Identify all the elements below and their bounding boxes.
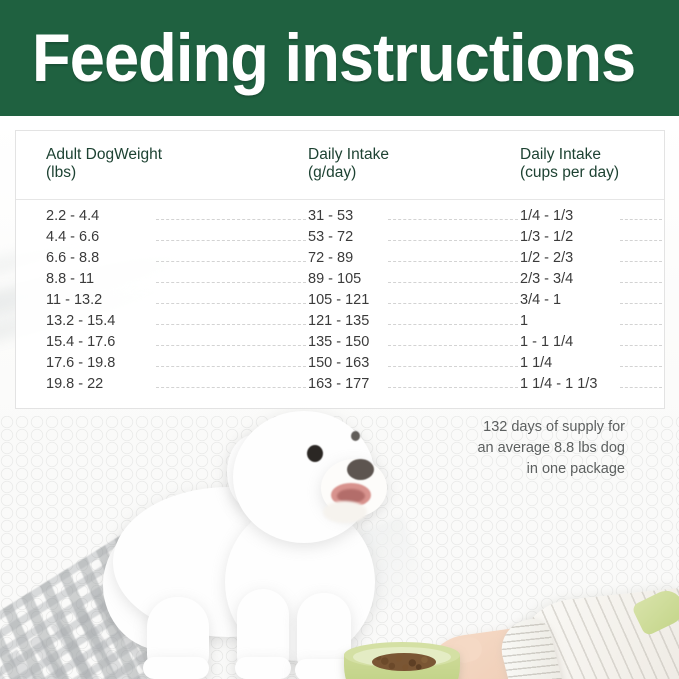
cell-weight: 2.2 - 4.4 — [46, 206, 105, 227]
leader-line — [620, 387, 662, 388]
dog-eye — [351, 431, 360, 441]
leader-line — [620, 366, 662, 367]
cell-weight: 11 - 13.2 — [46, 290, 108, 311]
leader-line — [620, 240, 662, 241]
cell-weight: 4.4 - 6.6 — [46, 227, 105, 248]
leader-line — [156, 324, 306, 325]
cell-grams: 31 - 53 — [308, 206, 359, 227]
table-row: 11 - 13.2 105 - 121 3/4 - 1 — [16, 290, 664, 311]
table-row: 4.4 - 6.6 53 - 72 1/3 - 1/2 — [16, 227, 664, 248]
column-header-line1: Daily Intake — [308, 146, 389, 163]
cell-weight: 15.4 - 17.6 — [46, 332, 121, 353]
leader-line — [156, 261, 306, 262]
supply-duration-caption: 132 days of supply for an average 8.8 lb… — [395, 417, 625, 480]
dog-paw — [235, 657, 291, 679]
cell-cups: 1 1/4 - 1 1/3 — [520, 374, 603, 395]
column-header-line2: (lbs) — [46, 164, 76, 181]
caption-line-3: in one package — [395, 459, 625, 480]
leader-line — [388, 219, 518, 220]
cell-grams: 105 - 121 — [308, 290, 375, 311]
cell-grams: 53 - 72 — [308, 227, 359, 248]
dog-food-bowl — [344, 638, 460, 679]
cell-grams: 150 - 163 — [308, 353, 375, 374]
leader-line — [388, 345, 518, 346]
column-header-line2: (g/day) — [308, 164, 356, 181]
cell-weight: 19.8 - 22 — [46, 374, 109, 395]
column-header-daily-intake-cups: Daily Intake(cups per day) — [520, 146, 619, 182]
leader-line — [620, 345, 662, 346]
table-row: 15.4 - 17.6 135 - 150 1 - 1 1/4 — [16, 332, 664, 353]
leader-line — [620, 324, 662, 325]
leader-line — [620, 282, 662, 283]
leader-line — [156, 345, 306, 346]
leader-line — [388, 303, 518, 304]
cell-grams: 121 - 135 — [308, 311, 375, 332]
cell-grams: 163 - 177 — [308, 374, 375, 395]
cell-grams: 89 - 105 — [308, 269, 367, 290]
cell-cups: 1 — [520, 311, 534, 332]
dog-paw — [143, 657, 209, 679]
column-header-line1: Adult DogWeight — [46, 146, 162, 163]
leader-line — [620, 219, 662, 220]
leader-line — [388, 261, 518, 262]
cell-cups: 1/2 - 2/3 — [520, 248, 579, 269]
caption-line-1: 132 days of supply for — [395, 417, 625, 438]
cell-cups: 1/3 - 1/2 — [520, 227, 579, 248]
page-title: Feeding instructions — [32, 18, 627, 98]
dog-nose — [347, 459, 374, 480]
leader-line — [388, 282, 518, 283]
cell-grams: 72 - 89 — [308, 248, 359, 269]
cell-cups: 1 1/4 — [520, 353, 558, 374]
cell-cups: 1/4 - 1/3 — [520, 206, 579, 227]
leader-line — [156, 303, 306, 304]
table-row: 8.8 - 11 89 - 105 2/3 - 3/4 — [16, 269, 664, 290]
leader-line — [156, 240, 306, 241]
cell-weight: 17.6 - 19.8 — [46, 353, 121, 374]
cell-cups: 1 - 1 1/4 — [520, 332, 579, 353]
column-header-adult-dog-weight: Adult DogWeight(lbs) — [46, 146, 162, 182]
table-row: 19.8 - 22 163 - 177 1 1/4 - 1 1/3 — [16, 374, 664, 395]
cell-weight: 6.6 - 8.8 — [46, 248, 105, 269]
cell-cups: 2/3 - 3/4 — [520, 269, 579, 290]
column-header-line2: (cups per day) — [520, 164, 619, 181]
cell-cups: 3/4 - 1 — [520, 290, 567, 311]
table-row: 13.2 - 15.4 121 - 135 1 — [16, 311, 664, 332]
leader-line — [388, 387, 518, 388]
table-row: 6.6 - 8.8 72 - 89 1/2 - 2/3 — [16, 248, 664, 269]
leader-line — [388, 324, 518, 325]
header-band: Feeding instructions — [0, 0, 679, 116]
dog-eye — [307, 445, 323, 462]
leader-line — [620, 303, 662, 304]
table-row: 17.6 - 19.8 150 - 163 1 1/4 — [16, 353, 664, 374]
dog-chin — [323, 501, 367, 523]
cell-weight: 8.8 - 11 — [46, 269, 100, 290]
leader-line — [156, 219, 306, 220]
leader-line — [156, 282, 306, 283]
leader-line — [156, 387, 306, 388]
table-header-row: Adult DogWeight(lbs) Daily Intake(g/day)… — [16, 131, 664, 200]
dog-kibble — [372, 653, 436, 671]
leader-line — [156, 366, 306, 367]
product-infographic: Feeding instructions — [0, 0, 679, 679]
table-row: 2.2 - 4.4 31 - 53 1/4 - 1/3 — [16, 206, 664, 227]
leader-line — [620, 261, 662, 262]
column-header-line1: Daily Intake — [520, 146, 601, 163]
cell-grams: 135 - 150 — [308, 332, 375, 353]
cell-weight: 13.2 - 15.4 — [46, 311, 121, 332]
caption-line-2: an average 8.8 lbs dog — [395, 438, 625, 459]
column-header-daily-intake-grams: Daily Intake(g/day) — [308, 146, 389, 182]
feeding-table: Adult DogWeight(lbs) Daily Intake(g/day)… — [15, 130, 665, 409]
leader-line — [388, 366, 518, 367]
leader-line — [388, 240, 518, 241]
table-body: 2.2 - 4.4 31 - 53 1/4 - 1/3 4.4 - 6.6 53… — [16, 200, 664, 395]
